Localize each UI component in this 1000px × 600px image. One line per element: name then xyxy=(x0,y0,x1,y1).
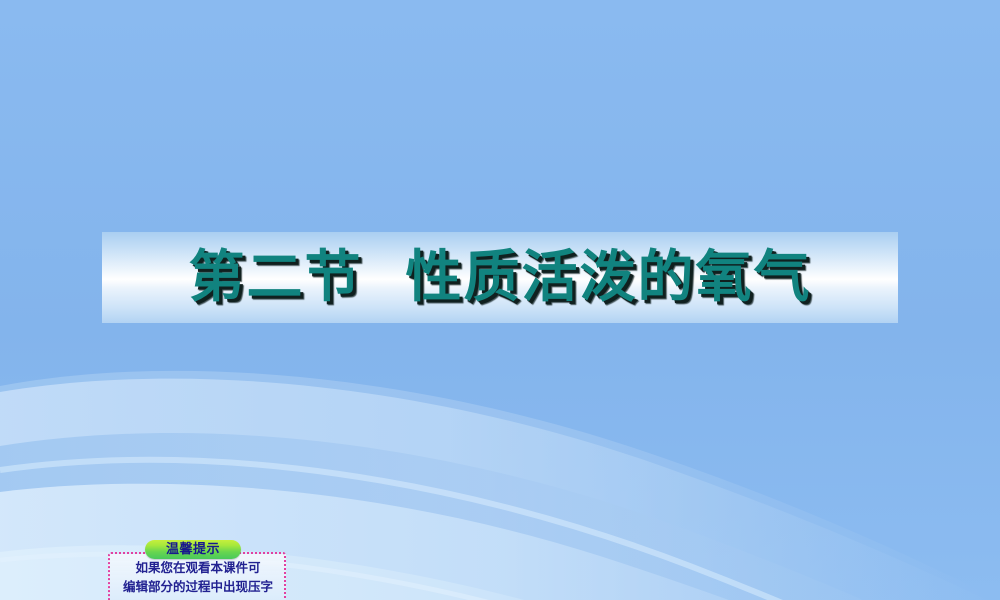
tip-line: 如果您在观看本课件可 xyxy=(110,558,286,577)
tip-badge-label: 温馨提示 xyxy=(166,543,220,556)
presentation-slide: 第二节 性质活泼的氧气 温馨提示 如果您在观看本课件可 编辑部分的过程中出现压字 xyxy=(0,0,1000,600)
tip-body-text: 如果您在观看本课件可 编辑部分的过程中出现压字 xyxy=(110,558,286,596)
tip-line: 编辑部分的过程中出现压字 xyxy=(110,577,286,596)
tip-badge: 温馨提示 xyxy=(145,540,241,559)
page-title: 第二节 性质活泼的氧气 xyxy=(102,232,898,323)
